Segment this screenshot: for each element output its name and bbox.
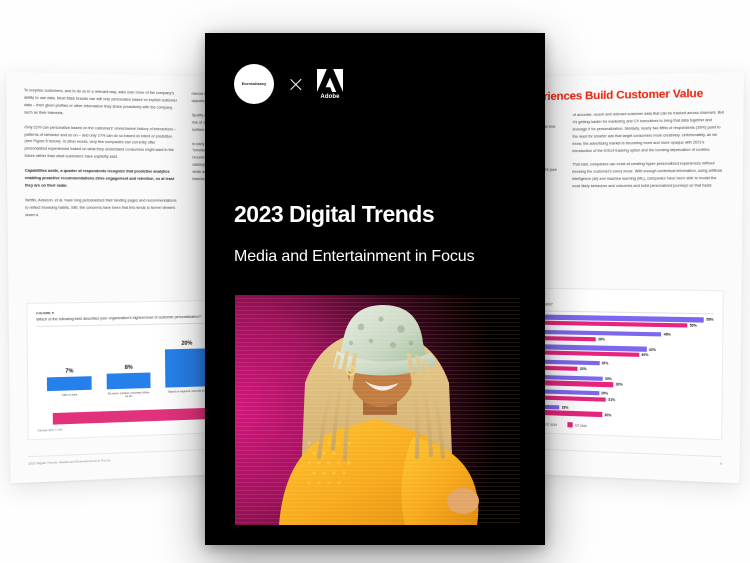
bar-value-label: 53%	[690, 324, 697, 328]
bar-value-label: 23%	[580, 367, 587, 371]
bar-value-label: 29%	[601, 391, 608, 395]
bar	[165, 348, 209, 388]
screenshot-stage: To surprise customers, and to do so in a…	[0, 0, 750, 563]
bar-column: 8%By name, product, purchase follow-up e…	[106, 328, 151, 406]
paragraph: Only 22% can personalize based on the cu…	[24, 124, 177, 162]
paragraph: That said, companies can excel at creati…	[572, 161, 725, 191]
econsultancy-logo-label: Econsultancy	[242, 82, 267, 86]
report-cover[interactable]: Econsultancy Adobe 2023 Digital Trends M…	[205, 33, 545, 545]
adobe-mark-icon	[317, 69, 343, 92]
bar-value-label: 20%	[181, 340, 192, 346]
bar-value-label: 46%	[664, 332, 671, 336]
cover-hero-image	[235, 295, 520, 525]
econsultancy-logo: Econsultancy	[234, 64, 274, 104]
legend-swatch	[567, 422, 572, 427]
bar-category-label: By name, product, purchase follow-up etc…	[107, 391, 151, 406]
footer-text: 2023 Digital Trends: Media and Entertain…	[28, 458, 110, 466]
hero-streak-overlay	[235, 295, 520, 525]
bar-value-label: 28%	[598, 337, 605, 341]
cover-logo-lockup: Econsultancy Adobe	[234, 64, 343, 104]
left-page-column-1: To surprise customers, and to do so in a…	[24, 87, 178, 226]
cover-title: 2023 Digital Trends	[234, 201, 434, 228]
paragraph: Netflix, Amazon, et al. have long person…	[25, 197, 178, 219]
bar-value-label: 40%	[641, 353, 648, 357]
bar-value-label: 30%	[604, 413, 611, 417]
bar-column: 20%Based on segment, interests etc.	[165, 327, 209, 404]
bar-value-label: 42%	[649, 347, 656, 351]
bar-value-label: 29%	[601, 361, 608, 365]
bar-value-label: 30%	[605, 376, 612, 380]
bar-category-label: Little or none	[62, 393, 78, 407]
bar-value-label: 7%	[65, 368, 73, 375]
adobe-logo: Adobe	[317, 69, 343, 100]
bar-value-label: 33%	[616, 383, 623, 387]
paragraph: Capabilities aside, a quarter of respond…	[25, 168, 178, 191]
bar-category-label: Based on segment, interests etc.	[168, 389, 206, 404]
legend-label: DT 2022	[575, 423, 587, 428]
bar	[47, 376, 92, 391]
bar-column: 7%Little or none	[46, 329, 92, 408]
adobe-wordmark: Adobe	[320, 94, 339, 100]
bar-value-label: 18%	[561, 405, 568, 409]
page-number: 9	[720, 461, 722, 465]
cover-subtitle: Media and Entertainment in Focus	[234, 248, 475, 266]
paragraph: To surprise customers, and to do so in a…	[24, 87, 177, 119]
bar-value-label: 8%	[125, 365, 133, 371]
bar-value-label: 31%	[608, 398, 615, 402]
bar-value-label: 58%	[706, 318, 713, 322]
x-separator-icon	[288, 77, 303, 92]
paragraph: of accurate, recent and relevant custome…	[572, 109, 725, 154]
legend-item: DT 2022	[567, 422, 587, 428]
right-page-column-2: of accurate, recent and relevant custome…	[572, 109, 726, 197]
bar	[107, 373, 151, 390]
legend-label: DT 2023	[545, 422, 557, 427]
